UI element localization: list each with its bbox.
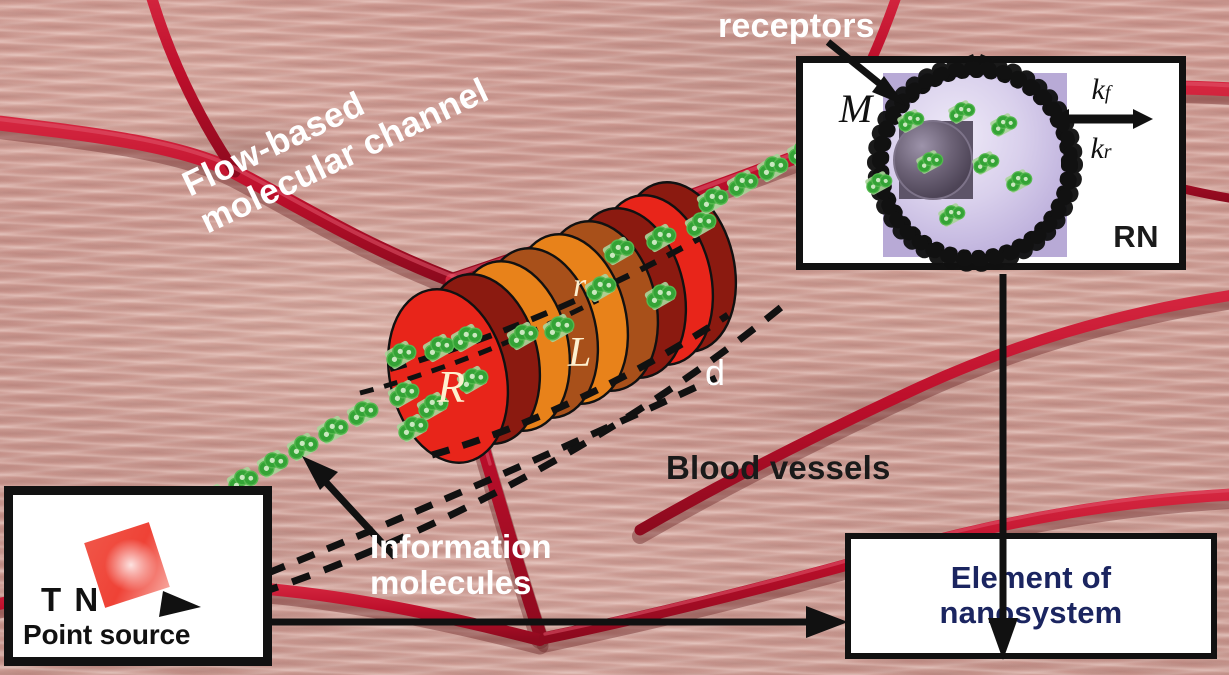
blood-vessels-caption: Blood vessels bbox=[666, 449, 891, 487]
information-molecules-caption: Information molecules bbox=[370, 529, 551, 600]
information-molecules-line1: Information bbox=[370, 529, 551, 565]
receptors-caption: receptors bbox=[718, 7, 875, 46]
figure-canvas: M kf kr RN bbox=[0, 0, 1229, 675]
tn-to-element-arrow bbox=[264, 606, 848, 638]
connector-arrows bbox=[0, 0, 1229, 675]
rn-to-element-arrow bbox=[988, 274, 1018, 660]
distance-label: d bbox=[705, 352, 725, 394]
length-label: L bbox=[568, 329, 591, 377]
radius-inner-label: r bbox=[573, 267, 586, 305]
information-molecules-line2: molecules bbox=[370, 565, 551, 601]
radius-outer-label: R bbox=[437, 360, 465, 413]
receptors-pointer-arrow bbox=[828, 42, 906, 106]
